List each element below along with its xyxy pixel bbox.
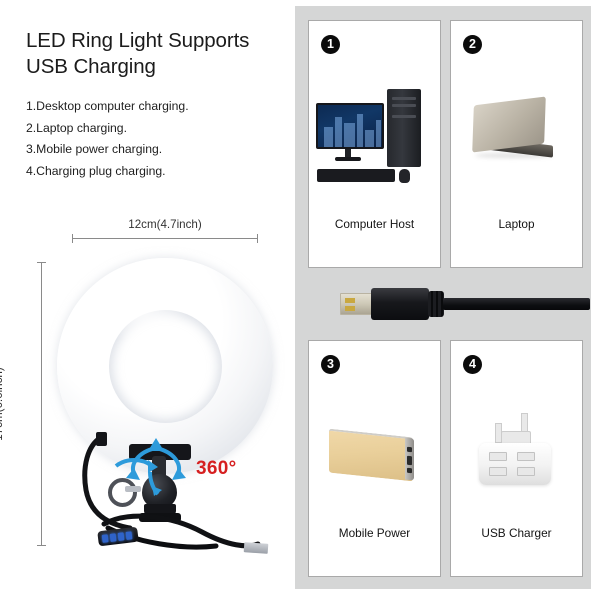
list-item: 2.Laptop charging. [26, 118, 276, 140]
height-dimension-line [37, 262, 46, 546]
device-card-mobile-power[interactable]: 3 Mobile Power [308, 340, 441, 577]
height-dimension-label: 17cm(6.6inch) [0, 367, 5, 440]
left-column: LED Ring Light Supports USB Charging 1.D… [0, 0, 295, 600]
device-grid-panel: 1 [295, 6, 591, 589]
usb-plug-housing [371, 288, 429, 320]
feature-list: 1.Desktop computer charging. 2.Laptop ch… [26, 96, 276, 182]
card-label: Mobile Power [309, 526, 440, 540]
list-item: 4.Charging plug charging. [26, 161, 276, 183]
usb-cable-wire [443, 298, 590, 310]
list-item: 3.Mobile power charging. [26, 139, 276, 161]
card-label: Computer Host [309, 217, 440, 231]
cable-usb-plug-icon [244, 542, 269, 554]
usb-a-connector-icon [340, 282, 590, 326]
width-dimension-label: 12cm(4.7inch) [72, 218, 258, 231]
height-cap-bottom [37, 545, 46, 546]
controller-led-indicators [102, 531, 133, 543]
computer-host-icon [309, 79, 440, 209]
monitor-screen [318, 105, 382, 147]
device-card-computer-host[interactable]: 1 [308, 20, 441, 268]
width-dimension: 12cm(4.7inch) [72, 218, 258, 243]
width-cap-right [257, 234, 258, 243]
infographic-root: LED Ring Light Supports USB Charging 1.D… [0, 0, 600, 600]
usb-strain-relief [428, 291, 444, 317]
device-card-laptop[interactable]: 2 Laptop [450, 20, 583, 268]
width-cap-left [72, 234, 73, 243]
laptop-lid [472, 96, 546, 152]
laptop-icon [451, 79, 582, 209]
monitor [316, 103, 384, 149]
card-badge: 2 [463, 35, 482, 54]
charger-body [479, 443, 551, 485]
height-dimension: 17cm(6.6inch) [16, 262, 46, 546]
keyboard [317, 169, 395, 182]
ring-light-inner-hole [109, 310, 222, 423]
pc-tower [387, 89, 421, 167]
power-bank-port-side [405, 438, 414, 481]
page-title: LED Ring Light Supports USB Charging [26, 28, 278, 80]
card-badge: 3 [321, 355, 340, 374]
power-bank-icon [309, 399, 440, 529]
card-label: USB Charger [451, 526, 582, 540]
device-card-usb-charger[interactable]: 4 USB Charger [450, 340, 583, 577]
monitor-stand-foot [335, 157, 361, 161]
list-item: 1.Desktop computer charging. [26, 96, 276, 118]
usb-charger-icon [451, 399, 582, 529]
mouse [399, 169, 410, 183]
card-badge: 1 [321, 35, 340, 54]
card-badge: 4 [463, 355, 482, 374]
width-dimension-line [72, 234, 258, 243]
card-label: Laptop [451, 217, 582, 231]
usb-metal-shell [340, 293, 372, 315]
power-bank-body [329, 429, 413, 482]
height-cap-top [37, 262, 46, 263]
plug-prongs [495, 413, 539, 447]
